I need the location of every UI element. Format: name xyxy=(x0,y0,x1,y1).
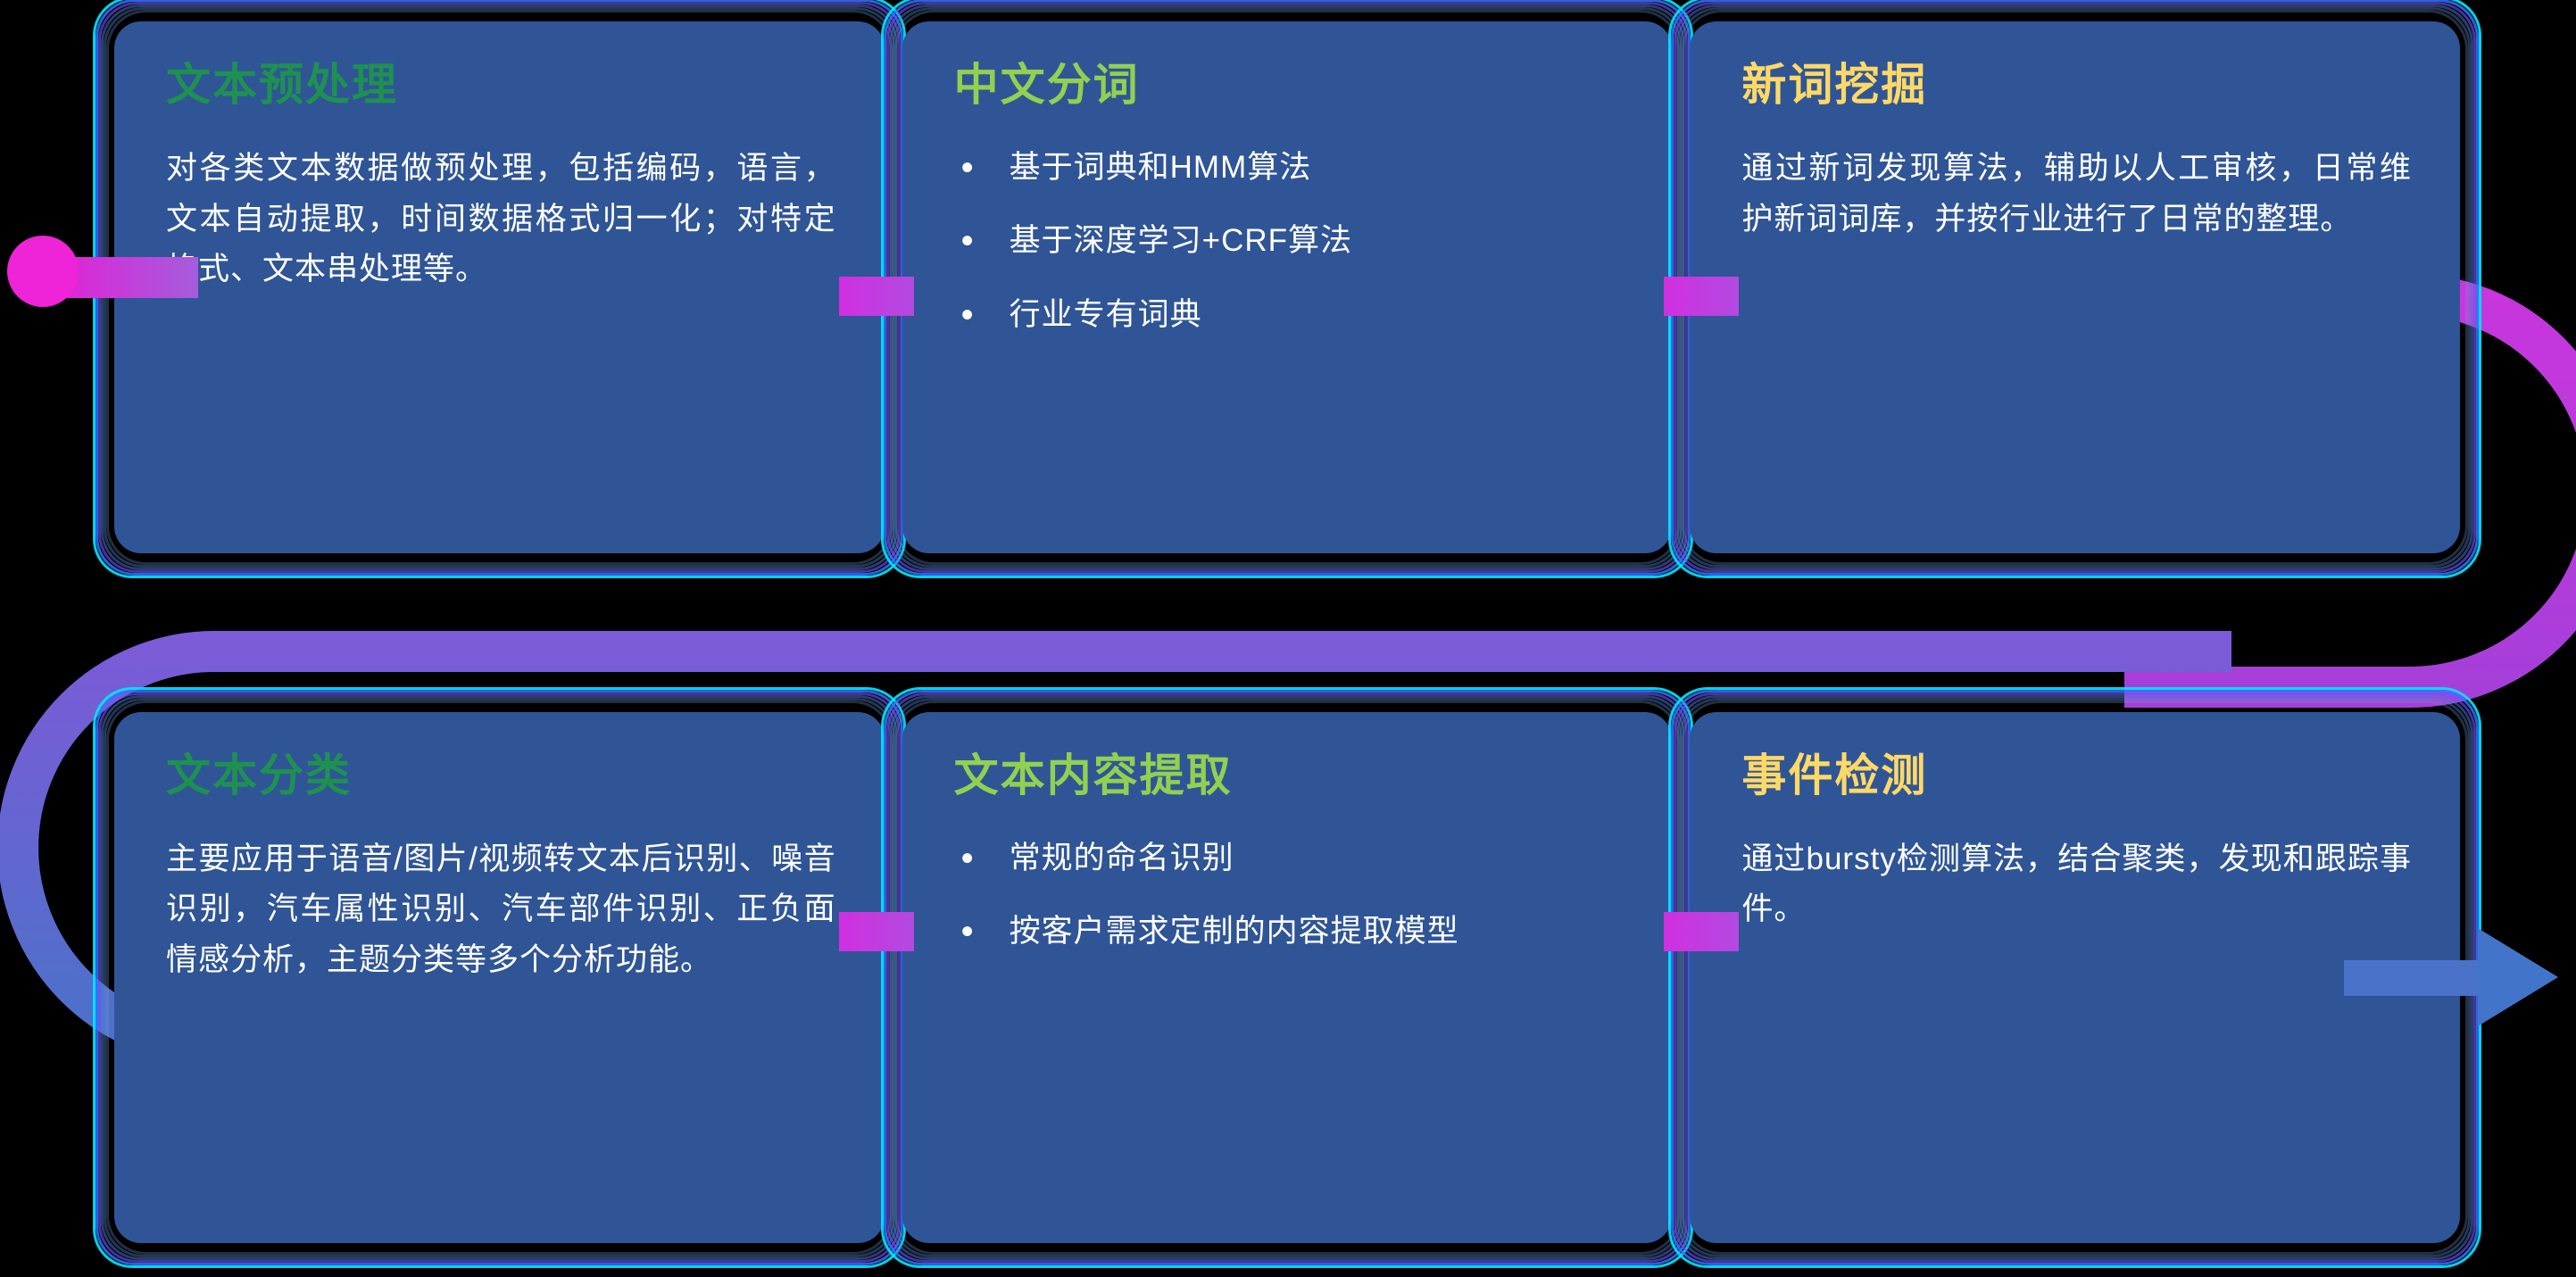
card-title: 文本分类 xyxy=(166,751,836,800)
card-grid: 文本预处理 对各类文本数据做预处理，包括编码，语言，文本自动提取，时间数据格式归… xyxy=(0,0,2576,1277)
card-title: 文本内容提取 xyxy=(954,751,1625,800)
end-connector-stub xyxy=(2344,960,2478,996)
list-item: 基于词典和HMM算法 xyxy=(954,144,1625,192)
list-item: 行业专有词典 xyxy=(954,291,1625,339)
card-slot-5: 文本内容提取 常规的命名识别 按客户需求定制的内容提取模型 xyxy=(893,700,1682,1256)
list-item: 常规的命名识别 xyxy=(954,834,1625,883)
card-body-text: 对各类文本数据做预处理，包括编码，语言，文本自动提取，时间数据格式归一化；对特定… xyxy=(166,144,836,295)
card-title: 新词挖掘 xyxy=(1741,61,2412,110)
list-item: 按客户需求定制的内容提取模型 xyxy=(954,908,1625,956)
list-item: 基于深度学习+CRF算法 xyxy=(954,217,1625,265)
card-body-text: 通过bursty检测算法，结合聚类，发现和跟踪事件。 xyxy=(1741,834,2412,935)
card-text-content-extraction[interactable]: 文本内容提取 常规的命名识别 按客户需求定制的内容提取模型 xyxy=(902,712,1673,1244)
card-slot-2: 中文分词 基于词典和HMM算法 基于深度学习+CRF算法 行业专有词典 xyxy=(893,9,1682,566)
card-title: 中文分词 xyxy=(954,61,1625,110)
card-text-preprocessing[interactable]: 文本预处理 对各类文本数据做预处理，包括编码，语言，文本自动提取，时间数据格式归… xyxy=(114,21,885,553)
card-title: 事件检测 xyxy=(1741,751,2412,800)
card-text-classification[interactable]: 文本分类 主要应用于语音/图片/视频转文本后识别、噪音识别，汽车属性识别、汽车部… xyxy=(114,712,885,1244)
card-slot-4: 文本分类 主要应用于语音/图片/视频转文本后识别、噪音识别，汽车属性识别、汽车部… xyxy=(105,700,893,1256)
card-body-text: 通过新词发现算法，辅助以人工审核，日常维护新词词库，并按行业进行了日常的整理。 xyxy=(1741,144,2412,245)
start-dot-marker xyxy=(7,236,79,307)
card-slot-3: 新词挖掘 通过新词发现算法，辅助以人工审核，日常维护新词词库，并按行业进行了日常… xyxy=(1681,9,2469,566)
card-new-word-discovery[interactable]: 新词挖掘 通过新词发现算法，辅助以人工审核，日常维护新词词库，并按行业进行了日常… xyxy=(1690,21,2460,553)
card-chinese-word-segmentation[interactable]: 中文分词 基于词典和HMM算法 基于深度学习+CRF算法 行业专有词典 xyxy=(902,21,1673,553)
card-bullet-list: 常规的命名识别 按客户需求定制的内容提取模型 xyxy=(954,834,1625,957)
card-title: 文本预处理 xyxy=(166,61,836,110)
card-bullet-list: 基于词典和HMM算法 基于深度学习+CRF算法 行业专有词典 xyxy=(954,144,1625,339)
card-slot-1: 文本预处理 对各类文本数据做预处理，包括编码，语言，文本自动提取，时间数据格式归… xyxy=(105,9,893,566)
arrow-right-icon xyxy=(2478,928,2558,1026)
card-body-text: 主要应用于语音/图片/视频转文本后识别、噪音识别，汽车属性识别、汽车部件识别、正… xyxy=(166,834,836,986)
